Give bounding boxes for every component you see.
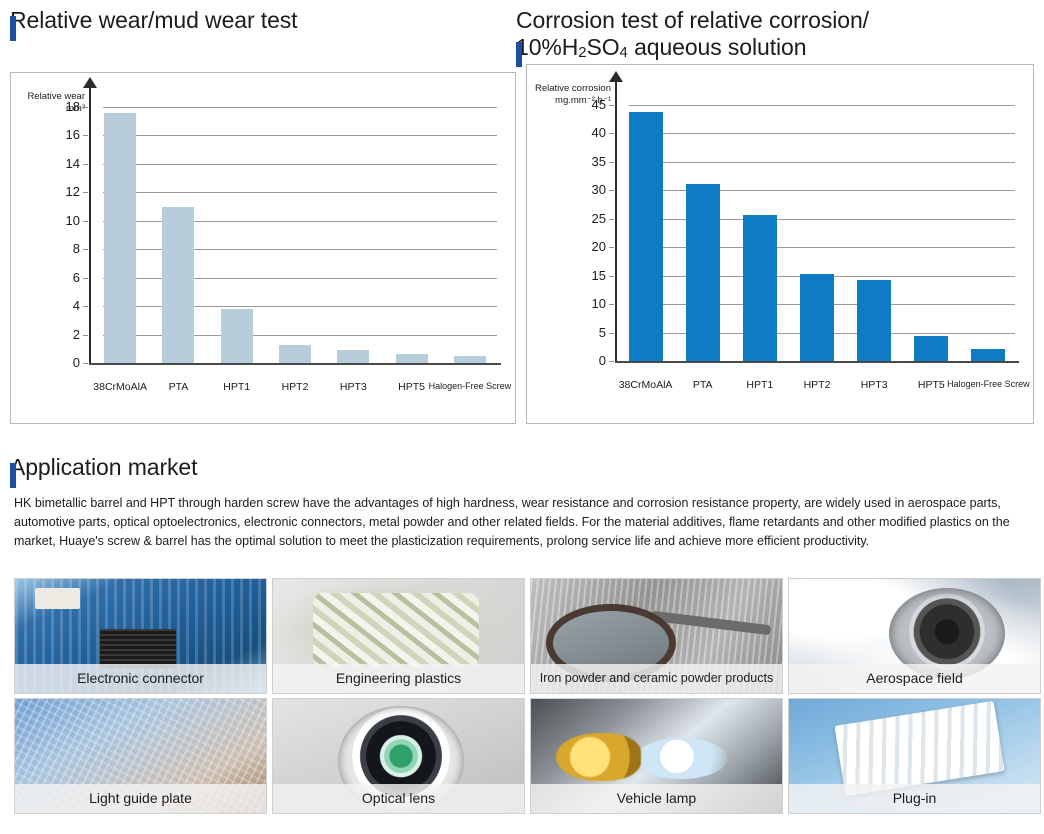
corrosion-formula-pre: 10%H <box>516 34 578 60</box>
y-tick-mark <box>609 247 614 248</box>
x-tick-label: HPT5 <box>398 381 425 393</box>
corrosion-formula-sub2: 4 <box>620 44 628 61</box>
y-tick-label: 18 <box>11 100 80 113</box>
corrosion-title: Corrosion test of relative corrosion/ 10… <box>516 7 869 66</box>
gallery-tile-plug-in[interactable]: Plug-in <box>788 698 1041 814</box>
x-tick-label: Halogen-Free Screw <box>429 381 512 391</box>
y-tick-label: 0 <box>11 356 80 369</box>
x-axis-line <box>89 363 501 365</box>
y-tick-mark <box>83 278 88 279</box>
heading-accent-bar <box>10 16 16 41</box>
bar-halogen-free-screw <box>971 349 1005 362</box>
y-tick-label: 16 <box>11 128 80 141</box>
y-tick-label: 4 <box>11 299 80 312</box>
application-paragraph: HK bimetallic barrel and HPT through har… <box>14 494 1030 551</box>
y-tick-label: 10 <box>527 297 606 310</box>
gridline <box>629 162 1015 163</box>
gridline <box>103 107 497 108</box>
bar-38crmoala <box>629 112 663 361</box>
gallery-caption: Plug-in <box>789 784 1040 813</box>
y-tick-label: 40 <box>527 126 606 139</box>
y-tick-label: 10 <box>11 214 80 227</box>
y-tick-label: 0 <box>527 354 606 367</box>
gallery-caption: Optical lens <box>273 784 524 813</box>
x-tick-label: PTA <box>169 381 189 393</box>
gallery-tile-vehicle-lamp[interactable]: Vehicle lamp <box>530 698 783 814</box>
y-tick-mark <box>609 105 614 106</box>
gridline <box>629 105 1015 106</box>
x-tick-label: HPT5 <box>918 379 945 391</box>
y-tick-label: 30 <box>527 183 606 196</box>
gallery-caption: Aerospace field <box>789 664 1040 693</box>
x-axis-line <box>615 361 1019 363</box>
wear-chart-panel: Relative wearmm³02468101214161838CrMoAlA… <box>10 72 516 424</box>
bar-hpt2 <box>800 274 834 361</box>
x-tick-label: HPT1 <box>746 379 773 391</box>
corrosion-section-heading: Corrosion test of relative corrosion/ 10… <box>516 7 1036 67</box>
y-tick-label: 8 <box>11 242 80 255</box>
y-tick-mark <box>609 304 614 305</box>
x-tick-label: HPT1 <box>223 381 250 393</box>
y-tick-label: 25 <box>527 212 606 225</box>
y-tick-mark <box>609 361 614 362</box>
gallery-tile-optical-lens[interactable]: Optical lens <box>272 698 525 814</box>
y-tick-mark <box>609 133 614 134</box>
gallery-tile-aerospace-field[interactable]: Aerospace field <box>788 578 1041 694</box>
bar-38crmoala <box>104 113 136 363</box>
y-tick-label: 35 <box>527 155 606 168</box>
application-title: Application market <box>10 454 197 481</box>
y-tick-label: 20 <box>527 240 606 253</box>
bar-pta <box>162 207 194 363</box>
wear-title: Relative wear/mud wear test <box>10 7 297 34</box>
bar-hpt1 <box>743 215 777 361</box>
gallery-caption: Vehicle lamp <box>531 784 782 813</box>
y-tick-label: 14 <box>11 157 80 170</box>
gridline <box>103 135 497 136</box>
gallery-tile-engineering-plastics[interactable]: Engineering plastics <box>272 578 525 694</box>
y-tick-label: 2 <box>11 328 80 341</box>
y-tick-mark <box>609 190 614 191</box>
x-tick-label: 38CrMoAlA <box>93 381 147 393</box>
gridline <box>103 164 497 165</box>
y-tick-mark <box>83 249 88 250</box>
application-image-grid: Electronic connectorEngineering plastics… <box>14 578 1041 814</box>
y-tick-label: 15 <box>527 269 606 282</box>
bar-halogen-free-screw <box>454 356 486 363</box>
x-tick-label: HPT3 <box>861 379 888 391</box>
y-tick-mark <box>609 276 614 277</box>
bar-hpt3 <box>857 280 891 361</box>
y-axis-caption-line1: Relative corrosion <box>531 83 611 95</box>
bar-hpt1 <box>221 309 253 363</box>
x-tick-label: HPT2 <box>282 381 309 393</box>
y-tick-label: 12 <box>11 185 80 198</box>
corrosion-chart-panel: Relative corrosionmg.mm⁻².h⁻¹05101520253… <box>526 64 1034 424</box>
bar-hpt3 <box>337 350 369 363</box>
x-tick-label: Halogen-Free Screw <box>947 379 1030 389</box>
bar-hpt5 <box>396 354 428 363</box>
bar-hpt2 <box>279 345 311 363</box>
bar-hpt5 <box>914 336 948 361</box>
x-tick-label: PTA <box>693 379 713 391</box>
y-tick-mark <box>83 221 88 222</box>
x-tick-label: HPT2 <box>804 379 831 391</box>
y-axis-line <box>89 87 91 363</box>
y-tick-mark <box>83 363 88 364</box>
heading-accent-bar <box>516 42 522 67</box>
x-tick-label: HPT3 <box>340 381 367 393</box>
page-root: Relative wear/mud wear test Relative wea… <box>0 0 1044 834</box>
gallery-caption: Light guide plate <box>15 784 266 813</box>
gallery-tile-iron-powder-and-ceramic-powder-products[interactable]: Iron powder and ceramic powder products <box>530 578 783 694</box>
gallery-caption: Electronic connector <box>15 664 266 693</box>
gallery-tile-light-guide-plate[interactable]: Light guide plate <box>14 698 267 814</box>
gridline <box>629 133 1015 134</box>
y-tick-mark <box>609 219 614 220</box>
y-tick-mark <box>83 135 88 136</box>
corrosion-formula-post: aqueous solution <box>628 34 807 60</box>
corrosion-title-line2: 10%H2SO4 aqueous solution <box>516 34 806 60</box>
y-axis-arrow-icon <box>609 71 623 82</box>
application-section-heading: Application market <box>10 454 510 488</box>
y-tick-mark <box>83 192 88 193</box>
corrosion-formula-sub1: 2 <box>578 44 586 61</box>
gallery-caption: Engineering plastics <box>273 664 524 693</box>
y-axis-arrow-icon <box>83 77 97 88</box>
y-tick-mark <box>609 333 614 334</box>
y-tick-mark <box>83 306 88 307</box>
y-tick-mark <box>83 335 88 336</box>
y-tick-mark <box>83 107 88 108</box>
y-tick-label: 5 <box>527 326 606 339</box>
corrosion-title-line1: Corrosion test of relative corrosion/ <box>516 7 869 33</box>
y-tick-label: 6 <box>11 271 80 284</box>
y-tick-mark <box>609 162 614 163</box>
x-tick-label: 38CrMoAlA <box>619 379 673 391</box>
bar-pta <box>686 184 720 361</box>
corrosion-formula-mid: SO <box>587 34 620 60</box>
y-axis-line <box>615 81 617 361</box>
y-tick-mark <box>83 164 88 165</box>
y-tick-label: 45 <box>527 98 606 111</box>
gallery-tile-electronic-connector[interactable]: Electronic connector <box>14 578 267 694</box>
gridline <box>103 192 497 193</box>
wear-section-heading: Relative wear/mud wear test <box>10 7 510 41</box>
heading-accent-bar <box>10 463 16 488</box>
gallery-caption: Iron powder and ceramic powder products <box>531 664 782 693</box>
